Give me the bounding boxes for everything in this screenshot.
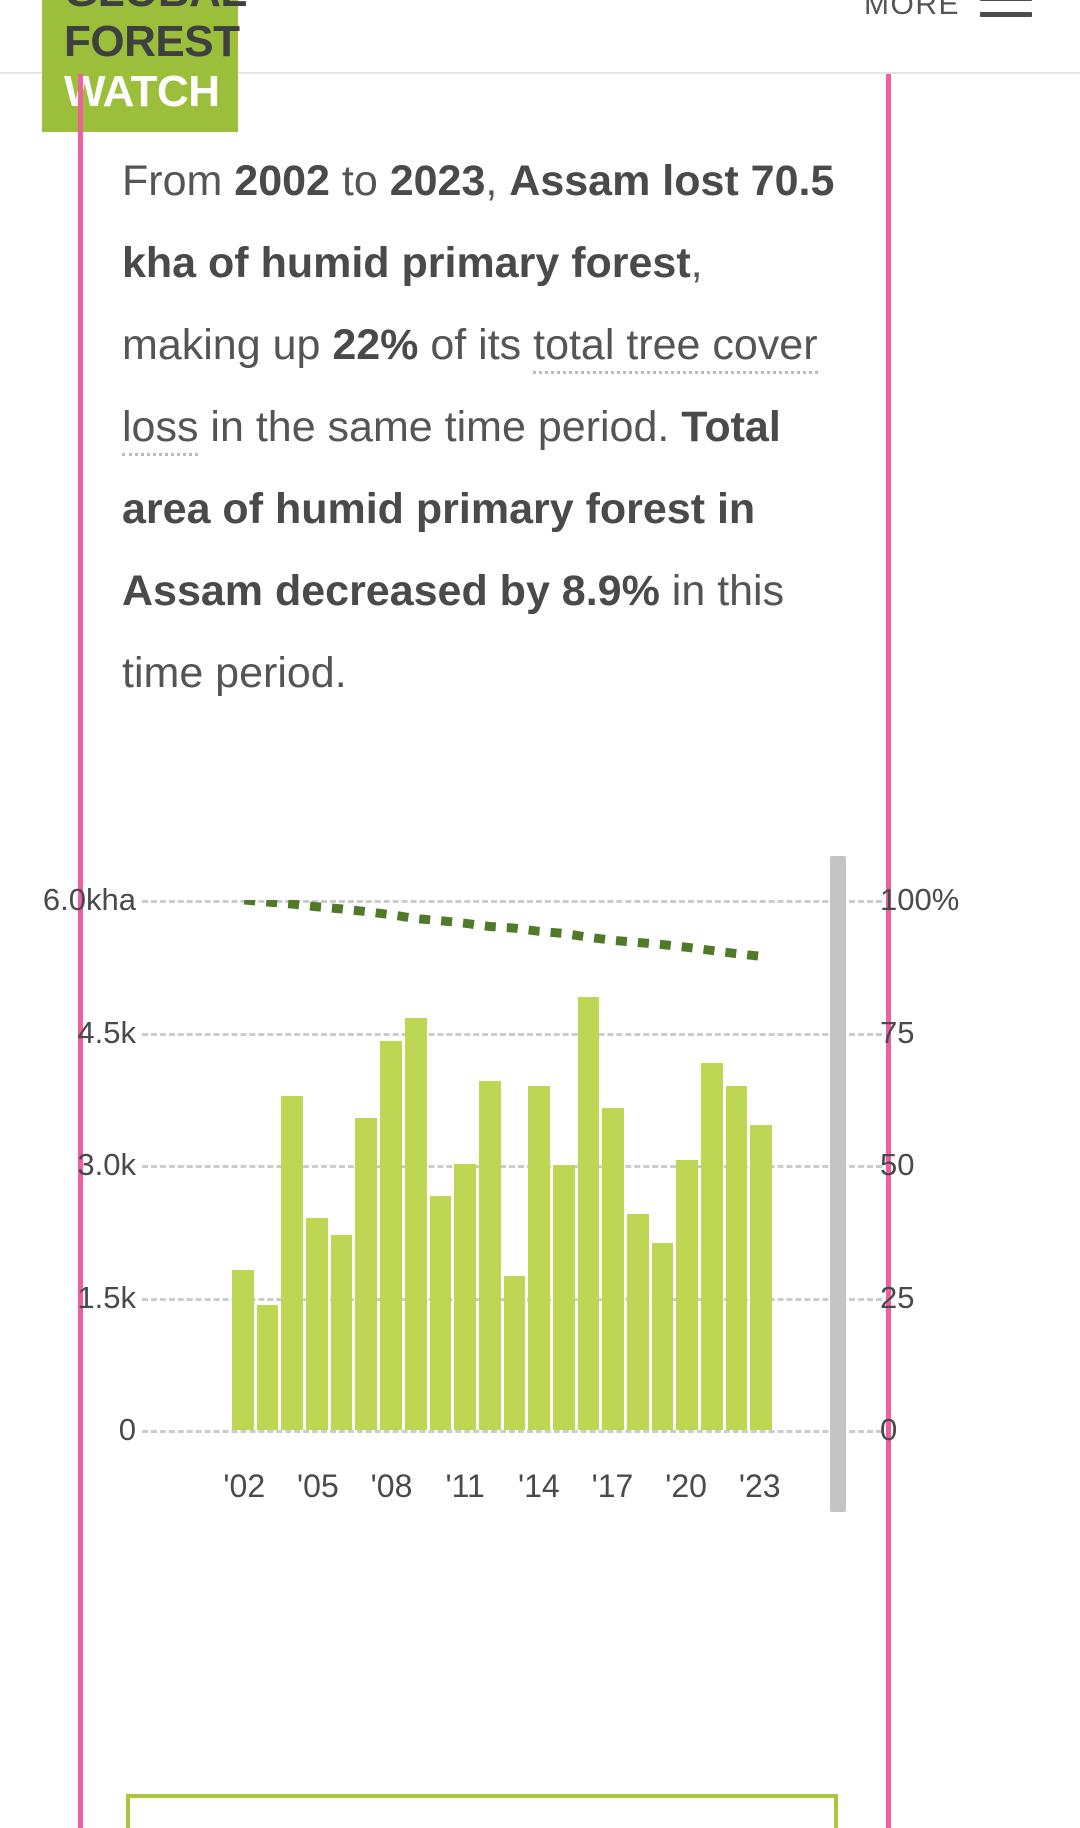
chart-bar[interactable] xyxy=(750,1125,772,1430)
logo-line-global: GLOBAL xyxy=(64,0,224,14)
chart-bar[interactable] xyxy=(602,1108,624,1430)
vertical-scrollbar[interactable] xyxy=(830,856,846,1512)
y-axis-right-tick: 0 xyxy=(880,1412,897,1448)
hamburger-bar-2 xyxy=(980,12,1032,17)
chart-plot-area: 001.5k253.0k504.5k756.0kha100% xyxy=(232,900,772,1430)
chart-bar[interactable] xyxy=(430,1196,452,1430)
chart-bar[interactable] xyxy=(232,1270,254,1430)
left-accent-rail xyxy=(78,74,83,1828)
y-axis-right-tick: 100% xyxy=(880,882,959,918)
gridline xyxy=(142,1430,882,1433)
y-axis-right-tick: 25 xyxy=(880,1280,914,1316)
narrative-year-start: 2002 xyxy=(234,157,330,205)
x-axis-tick: '23 xyxy=(739,1468,781,1505)
narrative-text-3: , xyxy=(485,157,509,205)
narrative-text-5: of its xyxy=(418,321,533,369)
x-axis-tick: '08 xyxy=(371,1468,413,1505)
chart-bar[interactable] xyxy=(306,1218,328,1430)
right-accent-rail xyxy=(886,74,891,1828)
hamburger-icon[interactable] xyxy=(980,0,1032,30)
chart-bar[interactable] xyxy=(553,1165,575,1430)
y-axis-left-tick: 6.0kha xyxy=(43,882,136,918)
narrative-text-6: in the same time period. xyxy=(198,403,681,451)
more-menu-label[interactable]: MORE xyxy=(864,0,960,22)
x-axis-tick: '14 xyxy=(518,1468,560,1505)
chart-bar[interactable] xyxy=(652,1243,674,1430)
x-axis-tick: '11 xyxy=(446,1468,485,1505)
chart-bar-series[interactable] xyxy=(232,900,772,1430)
chart-bar[interactable] xyxy=(331,1235,353,1430)
chart-bar[interactable] xyxy=(726,1086,748,1431)
chart-bar[interactable] xyxy=(528,1086,550,1431)
narrative-percent-share: 22% xyxy=(332,321,418,369)
chart-bar[interactable] xyxy=(479,1081,501,1430)
y-axis-left-tick: 4.5k xyxy=(77,1015,136,1051)
logo-line-forest: FOREST xyxy=(64,20,224,64)
bottom-callout-box[interactable] xyxy=(126,1794,838,1828)
logo-line-watch: WATCH xyxy=(64,70,224,114)
chart-bar[interactable] xyxy=(355,1118,377,1430)
chart-bar[interactable] xyxy=(676,1160,698,1430)
y-axis-right-tick: 50 xyxy=(880,1147,914,1183)
narrative-year-end: 2023 xyxy=(390,157,486,205)
x-axis-tick: '02 xyxy=(223,1468,265,1505)
x-axis-tick: '20 xyxy=(665,1468,707,1505)
page-root: MORE GLOBAL FOREST WATCH From 2002 to 20… xyxy=(0,0,1080,1828)
chart-bar[interactable] xyxy=(504,1276,526,1430)
hamburger-bar-1 xyxy=(980,0,1032,1)
narrative-text-1: From xyxy=(122,157,234,205)
chart-bar[interactable] xyxy=(281,1096,303,1430)
x-axis-tick: '05 xyxy=(297,1468,339,1505)
forest-loss-chart[interactable]: 001.5k253.0k504.5k756.0kha100% '02'05'08… xyxy=(118,872,878,1532)
chart-bar[interactable] xyxy=(380,1041,402,1430)
y-axis-left-tick: 3.0k xyxy=(77,1147,136,1183)
narrative-paragraph: From 2002 to 2023, Assam lost 70.5 kha o… xyxy=(122,140,842,714)
chart-bar[interactable] xyxy=(701,1063,723,1430)
chart-bar[interactable] xyxy=(627,1214,649,1430)
y-axis-right-tick: 75 xyxy=(880,1015,914,1051)
chart-bar[interactable] xyxy=(578,997,600,1430)
global-forest-watch-logo[interactable]: GLOBAL FOREST WATCH xyxy=(42,0,238,132)
chart-bar[interactable] xyxy=(257,1305,279,1430)
y-axis-left-tick: 0 xyxy=(119,1412,136,1448)
x-axis-tick: '17 xyxy=(592,1468,634,1505)
narrative-text-2: to xyxy=(330,157,390,205)
chart-bar[interactable] xyxy=(454,1164,476,1430)
y-axis-left-tick: 1.5k xyxy=(77,1280,136,1316)
chart-x-axis-labels: '02'05'08'11'14'17'20'23 xyxy=(232,1468,772,1518)
chart-bar[interactable] xyxy=(405,1018,427,1430)
